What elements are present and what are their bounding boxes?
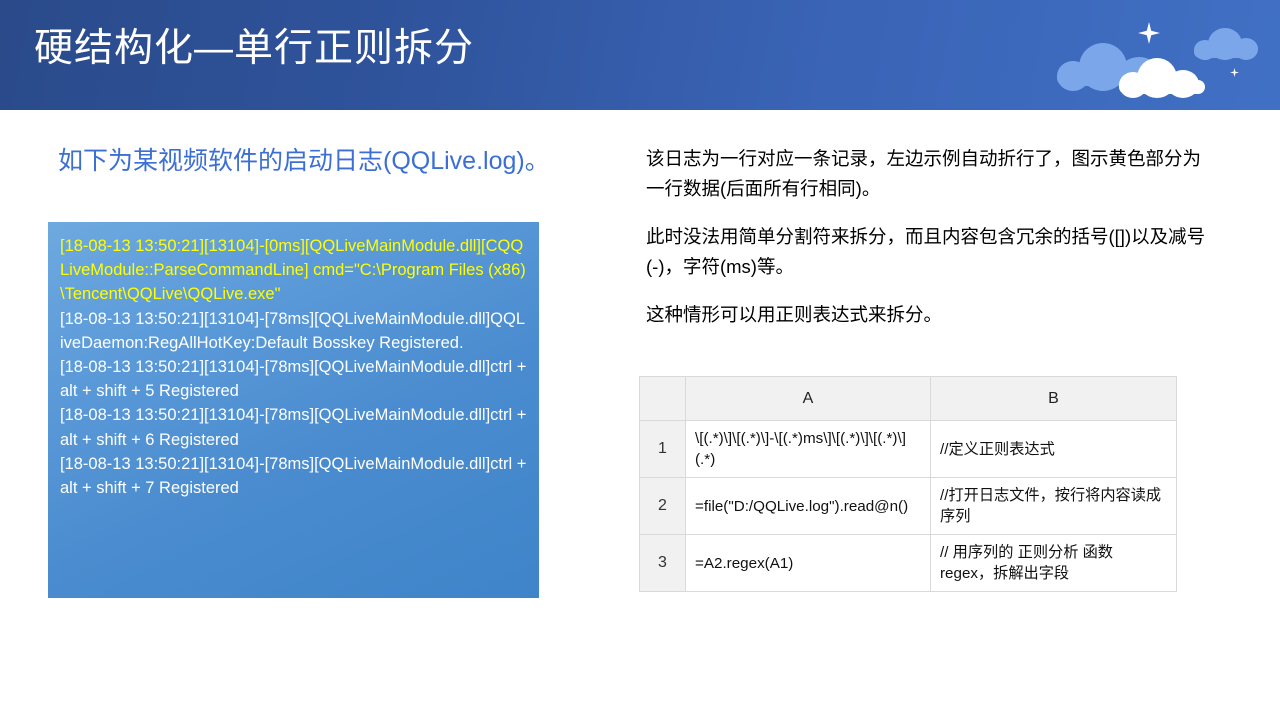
left-subtitle: 如下为某视频软件的启动日志(QQLive.log)。: [58, 143, 550, 179]
body-paragraph: 此时没法用简单分割符来拆分，而且内容包含冗余的括号([])以及减号(-)，字符(…: [646, 222, 1212, 282]
cloud-icon: [1194, 28, 1256, 54]
log-line: [18-08-13 13:50:21][13104]-[0ms][QQLiveM…: [60, 234, 527, 307]
table-header-row: A B: [640, 377, 1177, 421]
row-index: 2: [640, 478, 686, 535]
log-line: [18-08-13 13:50:21][13104]-[78ms][QQLive…: [60, 307, 527, 355]
body-paragraph: 这种情形可以用正则表达式来拆分。: [646, 300, 1212, 330]
page-title: 硬结构化—单行正则拆分: [34, 23, 474, 75]
cell-b2[interactable]: //打开日志文件，按行将内容读成序列: [931, 478, 1177, 535]
slide: 硬结构化—单行正则拆分 如下为某视频软件的启动日志(QQLive.log)。 […: [0, 0, 1280, 720]
column-header-b: B: [931, 377, 1177, 421]
cell-a3[interactable]: =A2.regex(A1): [686, 535, 931, 592]
log-sample-box: [18-08-13 13:50:21][13104]-[0ms][QQLiveM…: [48, 222, 539, 598]
formula-table: A B 1 \[(.*)\]\[(.*)\]-\[(.*)ms\]\[(.*)\…: [639, 376, 1177, 592]
cell-a2[interactable]: =file("D:/QQLive.log").read@n(): [686, 478, 931, 535]
column-header-corner: [640, 377, 686, 421]
slide-header-band: 硬结构化—单行正则拆分: [0, 0, 1280, 110]
body-paragraph: 该日志为一行对应一条记录，左边示例自动折行了，图示黄色部分为一行数据(后面所有行…: [646, 144, 1212, 204]
column-header-a: A: [686, 377, 931, 421]
cell-b3[interactable]: // 用序列的 正则分析 函数 regex，拆解出字段: [931, 535, 1177, 592]
table-row: 2 =file("D:/QQLive.log").read@n() //打开日志…: [640, 478, 1177, 535]
row-index: 3: [640, 535, 686, 592]
cell-a1[interactable]: \[(.*)\]\[(.*)\]-\[(.*)ms\]\[(.*)\]\[(.*…: [686, 421, 931, 478]
cloud-icon: [1119, 58, 1209, 88]
sparkle-icon: [1230, 68, 1239, 77]
log-line: [18-08-13 13:50:21][13104]-[78ms][QQLive…: [60, 403, 527, 451]
log-line: [18-08-13 13:50:21][13104]-[78ms][QQLive…: [60, 452, 527, 500]
table-row: 1 \[(.*)\]\[(.*)\]-\[(.*)ms\]\[(.*)\]\[(…: [640, 421, 1177, 478]
table-row: 3 =A2.regex(A1) // 用序列的 正则分析 函数 regex，拆解…: [640, 535, 1177, 592]
log-line: [18-08-13 13:50:21][13104]-[78ms][QQLive…: [60, 355, 527, 403]
row-index: 1: [640, 421, 686, 478]
cloud-base: [1194, 46, 1256, 58]
cloud-base: [1119, 80, 1205, 94]
right-text-column: 该日志为一行对应一条记录，左边示例自动折行了，图示黄色部分为一行数据(后面所有行…: [646, 144, 1212, 330]
sparkle-icon: [1138, 22, 1160, 44]
cell-b1[interactable]: //定义正则表达式: [931, 421, 1177, 478]
